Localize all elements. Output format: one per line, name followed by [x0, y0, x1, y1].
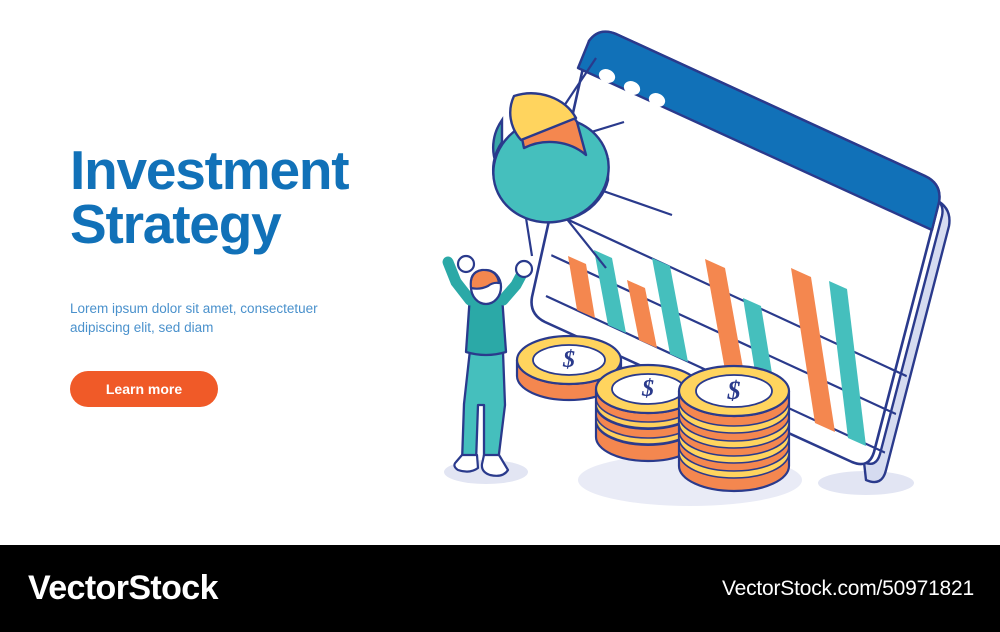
person-shoe-right	[482, 455, 508, 476]
learn-more-button[interactable]: Learn more	[70, 371, 218, 407]
person-hand-right	[516, 261, 532, 277]
coin-small-dollar-icon: $	[562, 347, 575, 373]
vectorstock-logo: VectorStock	[28, 569, 218, 608]
coin-stack-large[interactable]: $	[679, 366, 789, 491]
page-title: Investment Strategy	[70, 144, 430, 252]
illustration-isometric-investment-scene: $ $	[0, 0, 1000, 545]
person-shoe-left	[454, 455, 478, 472]
hero-subtitle: Lorem ipsum dolor sit amet, consectetuer…	[70, 300, 345, 337]
screenshot-root: $ $	[0, 0, 1000, 632]
coin-medium-dollar-icon: $	[641, 376, 654, 402]
person-hand-left	[458, 256, 474, 272]
vectorstock-url: VectorStock.com/50971821	[722, 577, 974, 601]
hero-copy: Investment Strategy Lorem ipsum dolor si…	[70, 144, 430, 252]
coin-large-dollar-icon: $	[727, 376, 741, 405]
person-pants	[462, 350, 505, 462]
watermark-footer: VectorStock VectorStock.com/50971821	[0, 545, 1000, 632]
